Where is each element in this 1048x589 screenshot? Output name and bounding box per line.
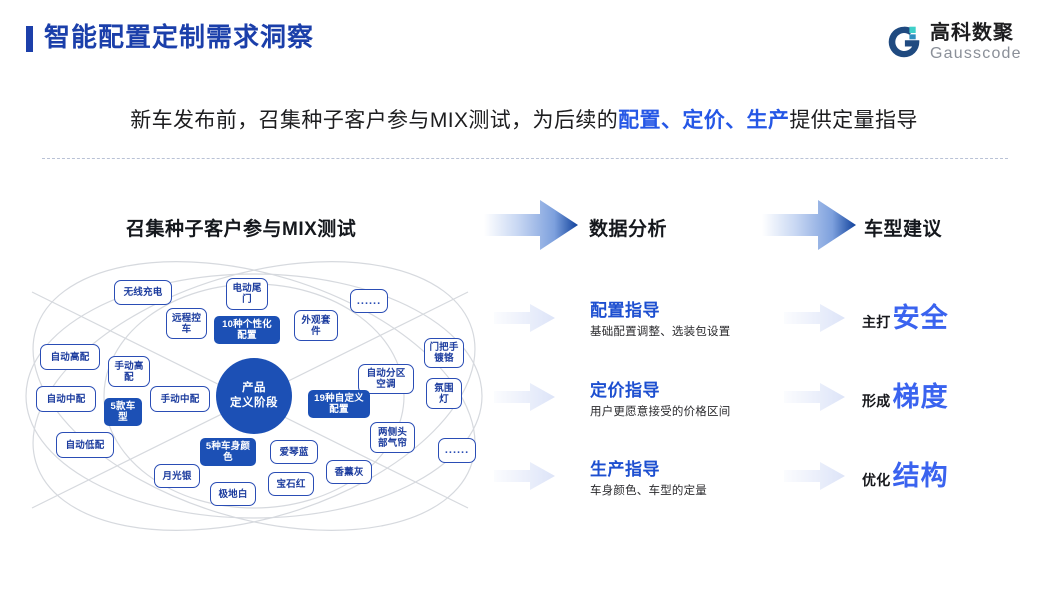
mindmap-node[interactable]: 宝石红	[268, 472, 314, 496]
row-arrow-icon-left-1	[494, 303, 556, 333]
lead-sentence: 新车发布前，召集种子客户参与MIX测试，为后续的配置、定价、生产提供定量指导	[0, 106, 1048, 136]
outcome-prefix: 主打	[862, 312, 891, 332]
mindmap-node[interactable]: 自动中配	[36, 386, 96, 412]
guidance-row-pricing: 定价指导 用户更愿意接受的价格区间	[590, 380, 730, 421]
hub-line-1: 产品	[230, 381, 278, 396]
guidance-subtitle: 基础配置调整、选装包设置	[590, 324, 730, 341]
mindmap-node[interactable]: 爱琴蓝	[270, 440, 318, 464]
lead-part-2: 提供定量指导	[789, 109, 917, 132]
stage-heading-recommendation: 车型建议	[864, 214, 942, 241]
stage-heading-analysis: 数据分析	[589, 214, 667, 241]
outcome-word: 安全	[893, 303, 949, 333]
page-title: 智能配置定制需求洞察	[44, 20, 314, 54]
lead-divider	[42, 158, 1008, 159]
guidance-row-production: 生产指导 车身颜色、车型的定量	[590, 459, 707, 500]
gausscode-logo-icon	[886, 24, 922, 60]
outcome-prefix: 形成	[862, 391, 891, 411]
stage-arrow-icon-1	[484, 198, 580, 252]
mindmap-node[interactable]: 手动高配	[108, 356, 150, 387]
mindmap-hub: 产品 定义阶段	[216, 358, 292, 434]
mindmap-node[interactable]: 外观套件	[294, 310, 338, 341]
outcome-structure: 优化 结构	[862, 461, 949, 491]
mindmap-node[interactable]: ......	[438, 438, 476, 463]
outcome-safety: 主打 安全	[862, 303, 949, 333]
row-arrow-icon-right-1	[784, 303, 846, 333]
guidance-subtitle: 车身颜色、车型的定量	[590, 483, 707, 500]
row-arrow-icon-right-3	[784, 461, 846, 491]
lead-highlight: 配置、定价、生产	[618, 109, 789, 132]
row-arrow-icon-right-2	[784, 382, 846, 412]
guidance-title: 生产指导	[590, 459, 707, 481]
outcome-word: 结构	[893, 461, 949, 491]
mindmap-node[interactable]: 电动尾门	[226, 278, 268, 310]
mindmap-node[interactable]: 5种车身颜色	[200, 438, 256, 466]
guidance-title: 定价指导	[590, 380, 730, 402]
mindmap-node[interactable]: 自动低配	[56, 432, 114, 458]
outcome-gradient: 形成 梯度	[862, 382, 949, 412]
logo-text-en: Gausscode	[930, 45, 1022, 63]
outcome-prefix: 优化	[862, 470, 891, 490]
guidance-subtitle: 用户更愿意接受的价格区间	[590, 404, 730, 421]
logo-text-zh: 高科数聚	[930, 22, 1014, 44]
stage-arrow-icon-2	[762, 198, 858, 252]
row-arrow-icon-left-3	[494, 461, 556, 491]
mindmap-node[interactable]: 极地白	[210, 482, 256, 506]
mindmap-node[interactable]: 无线充电	[114, 280, 172, 305]
page-header: 智能配置定制需求洞察 高科数聚 Gausscode	[0, 0, 1048, 78]
mindmap-node[interactable]: 远程控车	[166, 308, 207, 339]
mindmap-node[interactable]: 两侧头部气帘	[370, 422, 415, 453]
outcome-word: 梯度	[893, 382, 949, 412]
mindmap-node[interactable]: 自动高配	[40, 344, 100, 370]
mindmap-node[interactable]: 香薰灰	[326, 460, 372, 484]
mindmap-node[interactable]: 月光银	[154, 464, 200, 488]
mindmap-node[interactable]: 手动中配	[150, 386, 210, 412]
row-arrow-icon-left-2	[494, 382, 556, 412]
lead-part-1: 新车发布前，召集种子客户参与MIX测试，为后续的	[130, 109, 618, 132]
brand-logo: 高科数聚 Gausscode	[886, 20, 1026, 66]
mindmap-node[interactable]: 10种个性化配置	[214, 316, 280, 344]
title-accent-bar	[26, 26, 33, 52]
stage-heading-collect: 召集种子客户参与MIX测试	[126, 214, 356, 241]
mindmap-node[interactable]: ......	[350, 289, 388, 313]
mindmap-node[interactable]: 氛围灯	[426, 378, 462, 409]
hub-line-2: 定义阶段	[230, 396, 278, 411]
guidance-title: 配置指导	[590, 300, 730, 322]
mindmap-diagram: 产品 定义阶段 无线充电 电动尾门 远程控车 10种个性化配置 外观套件 ...…	[18, 258, 490, 534]
mindmap-node[interactable]: 19种自定义配置	[308, 390, 370, 418]
guidance-row-config: 配置指导 基础配置调整、选装包设置	[590, 300, 730, 341]
mindmap-node[interactable]: 5款车型	[104, 398, 142, 426]
mindmap-node[interactable]: 门把手镀铬	[424, 338, 464, 368]
